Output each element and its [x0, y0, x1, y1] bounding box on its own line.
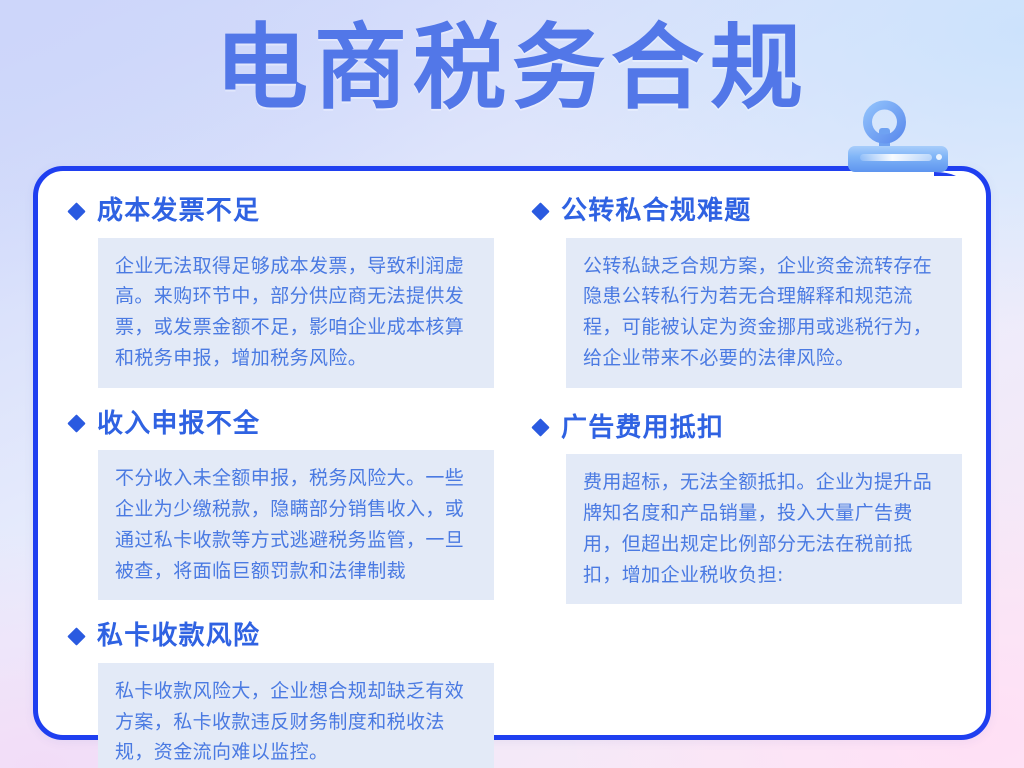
diamond-bullet-icon: [67, 627, 85, 645]
item-body: 私卡收款风险大，企业想合规却缺乏有效方案，私卡收款违反财务制度和税收法规，资金流…: [98, 663, 494, 768]
item-title: 收入申报不全: [97, 410, 260, 439]
diamond-bullet-icon: [531, 202, 549, 220]
item-header: 私卡收款风险: [70, 622, 494, 651]
item-body: 企业无法取得足够成本发票，导致利润虚高。来购环节中，部分供应商无法提供发票，或发…: [98, 238, 494, 388]
item-title: 成本发票不足: [97, 197, 260, 226]
item-body: 公转私缺乏合规方案，企业资金流转存在隐患公转私行为若无合理解释和规范流程，可能被…: [566, 238, 962, 388]
diamond-bullet-icon: [531, 419, 549, 437]
item-title: 私卡收款风险: [97, 622, 260, 651]
item-header: 收入申报不全: [70, 410, 494, 439]
diamond-bullet-icon: [67, 202, 85, 220]
list-item[interactable]: 成本发票不足 企业无法取得足够成本发票，导致利润虚高。来购环节中，部分供应商无法…: [70, 197, 494, 388]
item-title: 广告费用抵扣: [561, 414, 724, 443]
infographic-poster: 电商税务合规: [0, 0, 1024, 768]
item-header: 广告费用抵扣: [534, 414, 962, 443]
list-item[interactable]: 收入申报不全 不分收入未全额申报，税务风险大。一些企业为少缴税款，隐瞒部分销售收…: [70, 410, 494, 601]
page-title: 电商税务合规: [215, 18, 809, 118]
list-item[interactable]: 公转私合规难题 公转私缺乏合规方案，企业资金流转存在隐患公转私行为若无合理解释和…: [534, 197, 962, 388]
item-header: 公转私合规难题: [534, 197, 962, 226]
right-column: 公转私合规难题 公转私缺乏合规方案，企业资金流转存在隐患公转私行为若无合理解释和…: [512, 197, 968, 715]
item-header: 成本发票不足: [70, 197, 494, 226]
diamond-bullet-icon: [67, 415, 85, 433]
list-item[interactable]: 私卡收款风险 私卡收款风险大，企业想合规却缺乏有效方案，私卡收款违反财务制度和税…: [70, 622, 494, 768]
list-item[interactable]: 广告费用抵扣 费用超标，无法全额抵扣。企业为提升品牌知名度和产品销量，投入大量广…: [534, 414, 962, 605]
item-body: 费用超标，无法全额抵扣。企业为提升品牌知名度和产品销量，投入大量广告费用，但超出…: [566, 454, 962, 604]
item-body: 不分收入未全额申报，税务风险大。一些企业为少缴税款，隐瞒部分销售收入，或通过私卡…: [98, 450, 494, 600]
left-column: 成本发票不足 企业无法取得足够成本发票，导致利润虚高。来购环节中，部分供应商无法…: [56, 197, 512, 715]
content-card: 成本发票不足 企业无法取得足够成本发票，导致利润虚高。来购环节中，部分供应商无法…: [33, 166, 991, 740]
poster-title-container: 电商税务合规: [0, 18, 1024, 118]
item-title: 公转私合规难题: [561, 197, 751, 226]
content-columns: 成本发票不足 企业无法取得足够成本发票，导致利润虚高。来购环节中，部分供应商无法…: [38, 171, 986, 735]
